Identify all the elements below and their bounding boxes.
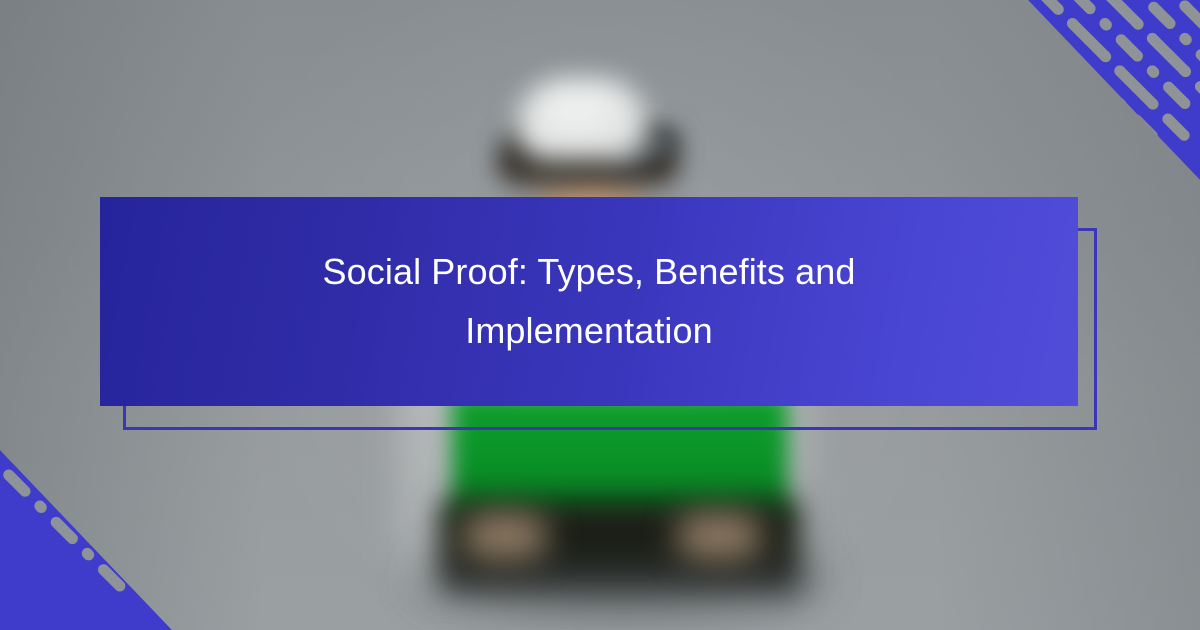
page-title: Social Proof: Types, Benefits and Implem… xyxy=(245,243,933,360)
title-banner: Social Proof: Types, Benefits and Implem… xyxy=(100,197,1078,406)
social-card: Social Proof: Types, Benefits and Implem… xyxy=(0,0,1200,630)
